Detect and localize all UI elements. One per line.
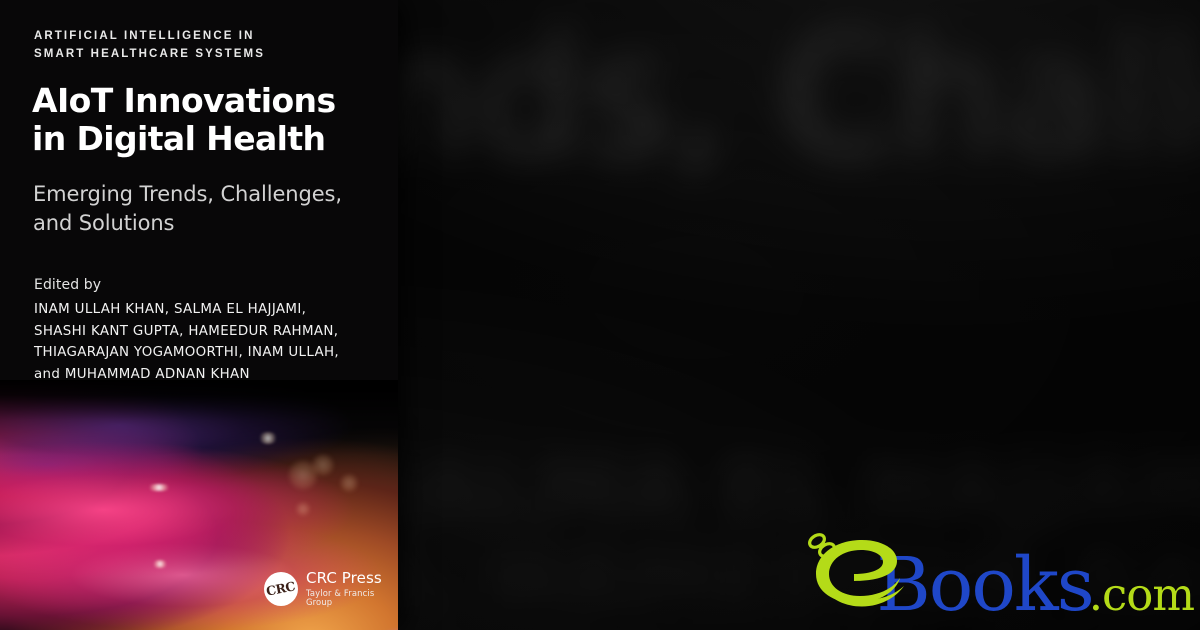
publisher-logo-crc-press: CRC CRC Press Taylor & Francis Group xyxy=(264,571,398,606)
editor-line-3: THIAGARAJAN YOGAMOORTHI, INAM ULLAH, xyxy=(34,342,394,364)
ebooks-e-logo-icon xyxy=(804,524,910,610)
series-title: ARTIFICIAL INTELLIGENCE IN SMART HEALTHC… xyxy=(34,27,265,63)
book-subtitle: Emerging Trends, Challenges, and Solutio… xyxy=(33,180,389,238)
book-subtitle-line-1: Emerging Trends, Challenges, xyxy=(33,180,389,209)
publisher-wordmark: CRC Press Taylor & Francis Group xyxy=(306,571,398,606)
screenshot-canvas: gital Health g Trends, Challenges, tions… xyxy=(0,0,1200,630)
publisher-name: CRC Press xyxy=(306,571,398,586)
book-subtitle-line-2: and Solutions xyxy=(33,209,389,238)
publisher-group: Taylor & Francis Group xyxy=(306,589,398,606)
editor-line-4: and MUHAMMAD ADNAN KHAN xyxy=(34,364,394,386)
ebooks-dotcom-text: .com xyxy=(1089,572,1194,617)
book-title-line-2: in Digital Health xyxy=(32,120,388,158)
edited-by-label: Edited by xyxy=(34,277,101,293)
book-cover[interactable]: ARTIFICIAL INTELLIGENCE IN SMART HEALTHC… xyxy=(0,0,398,630)
crc-roundel-icon: CRC xyxy=(264,572,298,606)
book-title: AIoT Innovations in Digital Health xyxy=(32,82,388,158)
editor-list: INAM ULLAH KHAN, SALMA EL HAJJAMI, SHASH… xyxy=(34,299,394,385)
series-title-line-2: SMART HEALTHCARE SYSTEMS xyxy=(34,45,265,63)
ebooks-com-watermark[interactable]: Books .com xyxy=(804,524,1194,610)
editor-line-1: INAM ULLAH KHAN, SALMA EL HAJJAMI, xyxy=(34,299,394,321)
book-title-line-1: AIoT Innovations xyxy=(32,82,388,120)
series-title-line-1: ARTIFICIAL INTELLIGENCE IN xyxy=(34,27,265,45)
crc-roundel-text: CRC xyxy=(265,578,296,598)
editor-line-2: SHASHI KANT GUPTA, HAMEEDUR RAHMAN, xyxy=(34,321,394,343)
